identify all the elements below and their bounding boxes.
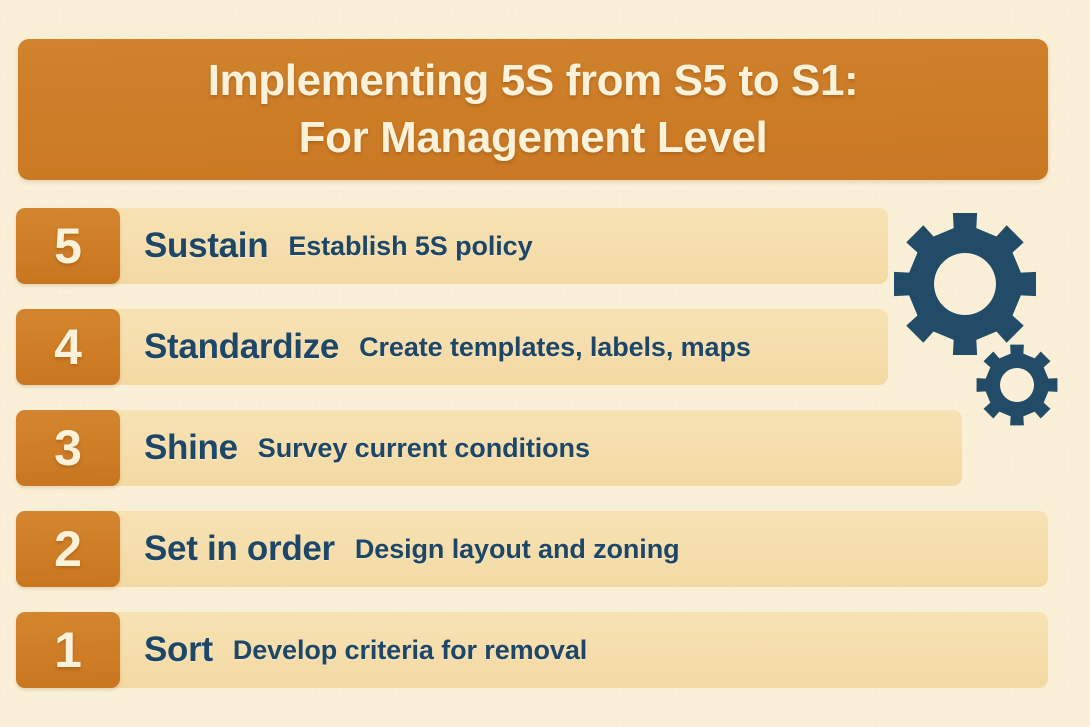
step-title: Sort bbox=[144, 630, 213, 670]
small-gear-icon bbox=[977, 345, 1058, 426]
step-text-group: SortDevelop criteria for removal bbox=[120, 612, 587, 688]
step-description: Design layout and zoning bbox=[355, 534, 680, 565]
step-row: 1SortDevelop criteria for removal bbox=[16, 612, 587, 688]
large-gear-icon bbox=[894, 213, 1036, 355]
step-description: Develop criteria for removal bbox=[233, 635, 587, 666]
step-text-group: StandardizeCreate templates, labels, map… bbox=[120, 309, 751, 385]
step-number-badge: 1 bbox=[16, 612, 120, 688]
step-number: 5 bbox=[54, 221, 82, 271]
step-number: 1 bbox=[54, 625, 82, 675]
step-description: Create templates, labels, maps bbox=[359, 332, 751, 363]
step-number-badge: 5 bbox=[16, 208, 120, 284]
step-number-badge: 3 bbox=[16, 410, 120, 486]
step-description: Establish 5S policy bbox=[288, 231, 532, 262]
step-row: 5SustainEstablish 5S policy bbox=[16, 208, 533, 284]
gear-cluster bbox=[893, 210, 1063, 428]
step-number-badge: 4 bbox=[16, 309, 120, 385]
step-row: 4StandardizeCreate templates, labels, ma… bbox=[16, 309, 751, 385]
step-number: 2 bbox=[54, 524, 82, 574]
step-text-group: SustainEstablish 5S policy bbox=[120, 208, 533, 284]
step-title: Set in order bbox=[144, 529, 335, 569]
infographic-canvas: Implementing 5S from S5 to S1: For Manag… bbox=[0, 0, 1090, 727]
step-title: Standardize bbox=[144, 327, 339, 367]
header-banner: Implementing 5S from S5 to S1: For Manag… bbox=[18, 39, 1048, 180]
step-row: 2Set in orderDesign layout and zoning bbox=[16, 511, 680, 587]
step-number-badge: 2 bbox=[16, 511, 120, 587]
step-number: 4 bbox=[54, 322, 82, 372]
page-title: Implementing 5S from S5 to S1: For Manag… bbox=[186, 53, 881, 166]
step-row: 3ShineSurvey current conditions bbox=[16, 410, 590, 486]
step-description: Survey current conditions bbox=[258, 433, 590, 464]
step-number: 3 bbox=[54, 423, 82, 473]
step-title: Sustain bbox=[144, 226, 268, 266]
step-text-group: ShineSurvey current conditions bbox=[120, 410, 590, 486]
step-text-group: Set in orderDesign layout and zoning bbox=[120, 511, 680, 587]
step-title: Shine bbox=[144, 428, 238, 468]
